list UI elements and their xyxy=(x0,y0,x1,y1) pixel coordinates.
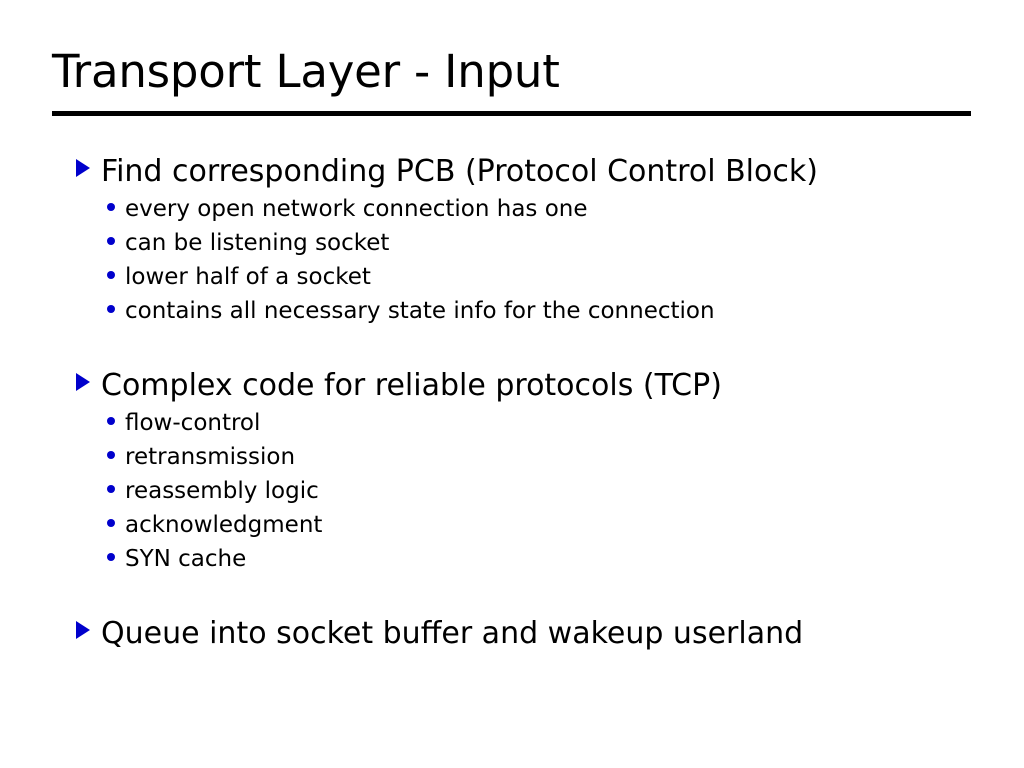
round-dot-bullet-icon xyxy=(107,417,115,425)
sub-bullet: flow-control xyxy=(0,406,1024,440)
round-dot-bullet-icon xyxy=(107,271,115,279)
sub-bullet-label: contains all necessary state info for th… xyxy=(125,294,715,328)
page-title: Transport Layer - Input xyxy=(52,48,972,97)
sub-bullet-label: flow-control xyxy=(125,406,260,440)
sub-bullet: SYN cache xyxy=(0,542,1024,576)
sub-bullet-label: every open network connection has one xyxy=(125,192,588,226)
sub-bullet: can be listening socket xyxy=(0,226,1024,260)
sub-bullet: acknowledgment xyxy=(0,508,1024,542)
sub-bullet: retransmission xyxy=(0,440,1024,474)
sub-bullet: reassembly logic xyxy=(0,474,1024,508)
round-dot-bullet-icon xyxy=(107,237,115,245)
bullet-section: Complex code for reliable protocols (TCP… xyxy=(0,368,1024,576)
bullet-section: Queue into socket buffer and wakeup user… xyxy=(0,616,1024,652)
bullet-section: Find corresponding PCB (Protocol Control… xyxy=(0,154,1024,328)
sub-bullet-list: every open network connection has one ca… xyxy=(0,192,1024,328)
main-bullet-label: Queue into socket buffer and wakeup user… xyxy=(101,616,803,652)
sub-bullet-list: flow-control retransmission reassembly l… xyxy=(0,406,1024,576)
sub-bullet: contains all necessary state info for th… xyxy=(0,294,1024,328)
round-dot-bullet-icon xyxy=(107,519,115,527)
round-dot-bullet-icon xyxy=(107,451,115,459)
main-bullet: Queue into socket buffer and wakeup user… xyxy=(0,616,1024,652)
slide-body: Find corresponding PCB (Protocol Control… xyxy=(0,154,1024,654)
sub-bullet-label: acknowledgment xyxy=(125,508,322,542)
round-dot-bullet-icon xyxy=(107,305,115,313)
sub-bullet-label: can be listening socket xyxy=(125,226,389,260)
main-bullet: Complex code for reliable protocols (TCP… xyxy=(0,368,1024,404)
sub-bullet-label: lower half of a socket xyxy=(125,260,371,294)
round-dot-bullet-icon xyxy=(107,485,115,493)
sub-bullet: every open network connection has one xyxy=(0,192,1024,226)
main-bullet-label: Find corresponding PCB (Protocol Control… xyxy=(101,154,818,190)
main-bullet-label: Complex code for reliable protocols (TCP… xyxy=(101,368,722,404)
sub-bullet-label: reassembly logic xyxy=(125,474,319,508)
sub-bullet: lower half of a socket xyxy=(0,260,1024,294)
round-dot-bullet-icon xyxy=(107,203,115,211)
main-bullet: Find corresponding PCB (Protocol Control… xyxy=(0,154,1024,190)
presentation-slide: Transport Layer - Input Find correspondi… xyxy=(0,0,1024,768)
title-block: Transport Layer - Input xyxy=(52,48,972,97)
sub-bullet-label: retransmission xyxy=(125,440,295,474)
triangle-right-bullet-icon xyxy=(76,373,90,391)
sub-bullet-label: SYN cache xyxy=(125,542,246,576)
triangle-right-bullet-icon xyxy=(76,159,90,177)
triangle-right-bullet-icon xyxy=(76,621,90,639)
round-dot-bullet-icon xyxy=(107,553,115,561)
title-underline-rule xyxy=(52,111,971,116)
